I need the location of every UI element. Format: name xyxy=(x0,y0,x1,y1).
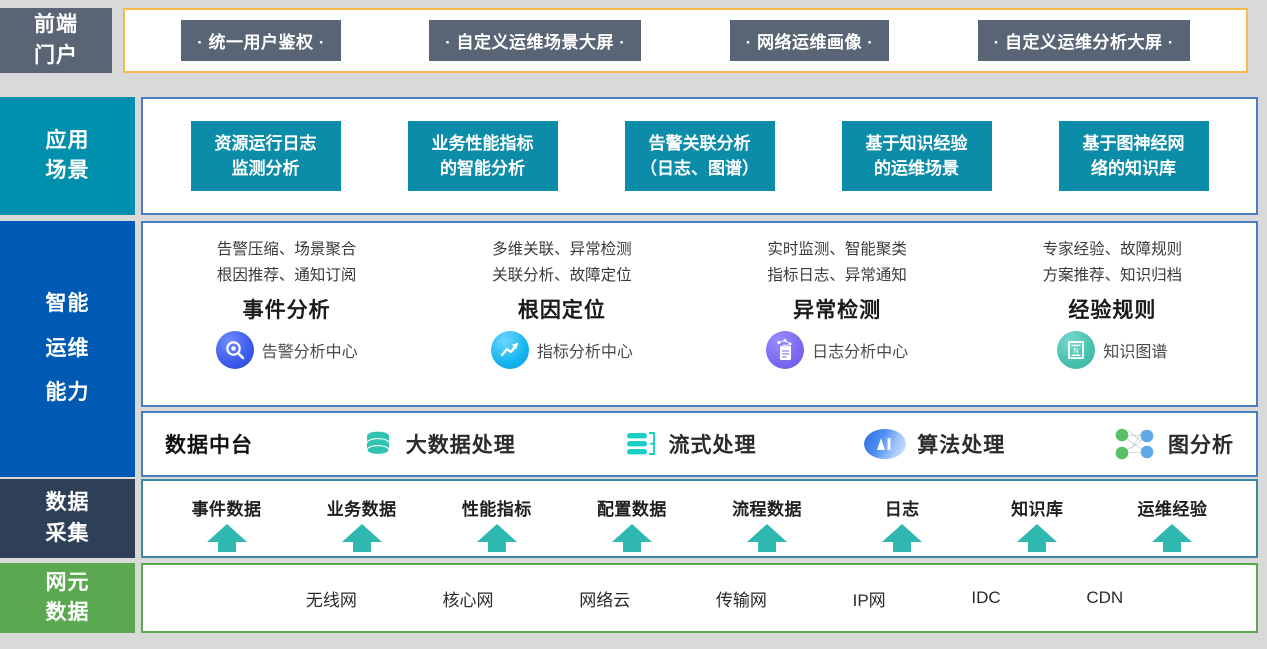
platform-item-label: 算法处理 xyxy=(917,429,1005,459)
ops-column-experience-rules[interactable]: 专家经验、故障规则 方案推荐、知识归档 经验规则 N 知识图谱 xyxy=(983,237,1241,369)
platform-item-stream[interactable]: 流式处理 xyxy=(624,429,757,459)
arrow-up-icon xyxy=(1152,524,1192,542)
ops-icon-label: 知识图谱 xyxy=(1103,338,1167,362)
row-label-network-element-data: 网元 数据 xyxy=(0,563,135,633)
row-label-line-1: 数据 xyxy=(46,488,90,518)
ops-desc-line-1: 多维关联、异常检测 xyxy=(492,237,632,263)
network-element-panel: 无线网 核心网 网络云 传输网 IP网 IDC CDN xyxy=(141,563,1258,633)
svg-text:N: N xyxy=(1074,346,1079,355)
ops-icon-row[interactable]: 日志分析中心 xyxy=(766,331,908,369)
element-item-core[interactable]: 核心网 xyxy=(443,586,494,611)
row-label-line-2: 采集 xyxy=(46,519,90,549)
collect-item-label: 日志 xyxy=(885,495,920,520)
collect-item-ops-experience[interactable]: 运维经验 xyxy=(1120,495,1224,542)
scenario-card-line-1: 告警关联分析 xyxy=(649,131,751,157)
collect-item-label: 配置数据 xyxy=(597,495,667,520)
collect-item-log[interactable]: 日志 xyxy=(850,495,954,542)
platform-item-graph-analysis[interactable]: 图分析 xyxy=(1113,427,1234,461)
ops-column-title: 根因定位 xyxy=(518,294,606,324)
scenario-card-line-1: 基于知识经验 xyxy=(866,131,968,157)
element-item-cdn[interactable]: CDN xyxy=(1086,588,1123,608)
row-application-scenarios: 应用 场景 资源运行日志 监测分析 业务性能指标 的智能分析 告警关联分析 （日… xyxy=(0,97,1258,215)
collect-item-performance-kpi[interactable]: 性能指标 xyxy=(445,495,549,542)
platform-item-label: 大数据处理 xyxy=(406,429,516,459)
element-item-ip[interactable]: IP网 xyxy=(853,586,886,611)
ops-desc-line-1: 告警压缩、场景聚合 xyxy=(217,237,357,263)
ops-desc-line-2: 方案推荐、知识归档 xyxy=(1043,263,1183,289)
row-label-line-1: 网元 xyxy=(46,568,90,598)
scenario-card-business-kpi[interactable]: 业务性能指标 的智能分析 xyxy=(408,121,558,191)
scenario-card-resource-log[interactable]: 资源运行日志 监测分析 xyxy=(191,121,341,191)
row-label-line-1: 前端 xyxy=(34,10,78,40)
portal-chip-auth[interactable]: · 统一用户鉴权 · xyxy=(181,20,341,61)
platform-item-label: 流式处理 xyxy=(669,429,757,459)
scenario-card-line-1: 基于图神经网 xyxy=(1083,131,1185,157)
log-clipboard-icon xyxy=(766,331,804,369)
ops-icon-label: 日志分析中心 xyxy=(812,338,908,362)
row-label-application-scenarios: 应用 场景 xyxy=(0,97,135,215)
data-collection-panel: 事件数据 业务数据 性能指标 配置数据 流程数据 日志 xyxy=(141,479,1258,558)
row-label-line-2: 门户 xyxy=(34,41,78,71)
ops-desc-line-1: 实时监测、智能聚类 xyxy=(767,237,907,263)
arrow-up-icon xyxy=(747,524,787,542)
row-label-frontend-portal: 前端 门户 xyxy=(0,8,112,73)
row-label-line-2: 场景 xyxy=(46,156,90,186)
arrow-up-icon xyxy=(612,524,652,542)
arrow-up-icon xyxy=(477,524,517,542)
collect-item-label: 事件数据 xyxy=(192,495,262,520)
portal-chip-scene-dashboard[interactable]: · 自定义运维场景大屏 · xyxy=(429,20,641,61)
scenario-card-gnn-knowledge-base[interactable]: 基于图神经网 络的知识库 xyxy=(1059,121,1209,191)
data-middle-platform-panel: 数据中台 大数据处理 xyxy=(141,411,1258,477)
row-label-line-2: 数据 xyxy=(46,598,90,628)
collect-item-label: 知识库 xyxy=(1011,495,1064,520)
scenario-card-line-2: 的智能分析 xyxy=(440,156,525,182)
ops-column-title: 事件分析 xyxy=(243,294,331,324)
scenario-card-line-2: 络的知识库 xyxy=(1091,156,1176,182)
collect-item-label: 性能指标 xyxy=(462,495,532,520)
data-middle-platform-title: 数据中台 xyxy=(165,429,253,459)
platform-item-bigdata[interactable]: 大数据处理 xyxy=(361,429,516,459)
scenario-card-line-2: 的运维场景 xyxy=(874,156,959,182)
ai-icon xyxy=(864,429,906,459)
row-label-line-3: 能力 xyxy=(46,378,90,408)
row-label-intelligent-ops-capability: 智能 运维 能力 xyxy=(0,221,135,477)
ops-column-title: 异常检测 xyxy=(793,294,881,324)
platform-item-algorithm[interactable]: 算法处理 xyxy=(864,429,1005,459)
row-label-data-collection: 数据 采集 xyxy=(0,479,135,558)
scenario-card-alarm-correlation[interactable]: 告警关联分析 （日志、图谱） xyxy=(625,121,775,191)
metric-trend-icon xyxy=(491,331,529,369)
scenario-card-line-2: （日志、图谱） xyxy=(640,156,759,182)
collect-item-label: 流程数据 xyxy=(732,495,802,520)
arrow-up-icon xyxy=(882,524,922,542)
row-intelligent-ops-capability: 智能 运维 能力 告警压缩、场景聚合 根因推荐、通知订阅 事件分析 xyxy=(0,221,1258,477)
collect-item-label: 业务数据 xyxy=(327,495,397,520)
ops-desc-line-2: 指标日志、异常通知 xyxy=(767,263,907,289)
stream-icon xyxy=(624,429,658,459)
element-item-wireless[interactable]: 无线网 xyxy=(306,586,357,611)
ops-icon-label: 指标分析中心 xyxy=(537,338,633,362)
ops-capability-panel: 告警压缩、场景聚合 根因推荐、通知订阅 事件分析 告警分析中心 xyxy=(141,221,1258,407)
alert-search-icon xyxy=(216,331,254,369)
ops-icon-row[interactable]: 告警分析中心 xyxy=(216,331,358,369)
ops-desc-line-2: 根因推荐、通知订阅 xyxy=(217,263,357,289)
ops-desc-line-2: 关联分析、故障定位 xyxy=(492,263,632,289)
portal-chip-analysis-dashboard[interactable]: · 自定义运维分析大屏 · xyxy=(978,20,1190,61)
ops-icon-label: 告警分析中心 xyxy=(262,338,358,362)
collect-item-event-data[interactable]: 事件数据 xyxy=(175,495,279,542)
row-frontend-portal: 前端 门户 · 统一用户鉴权 · · 自定义运维场景大屏 · · 网络运维画像 … xyxy=(0,8,1248,73)
portal-chip-network-profile[interactable]: · 网络运维画像 · xyxy=(730,20,890,61)
ops-column-root-cause[interactable]: 多维关联、异常检测 关联分析、故障定位 根因定位 指标分析中心 xyxy=(433,237,691,369)
ops-desc-line-1: 专家经验、故障规则 xyxy=(1043,237,1183,263)
scenario-card-line-1: 业务性能指标 xyxy=(432,131,534,157)
scenario-card-line-2: 监测分析 xyxy=(232,156,300,182)
arrow-up-icon xyxy=(207,524,247,542)
collect-item-label: 运维经验 xyxy=(1137,495,1207,520)
arrow-up-icon xyxy=(1017,524,1057,542)
arrow-up-icon xyxy=(342,524,382,542)
ops-column-title: 经验规则 xyxy=(1068,294,1156,324)
ops-column-anomaly-detection[interactable]: 实时监测、智能聚类 指标日志、异常通知 异常检测 xyxy=(708,237,966,369)
element-item-idc[interactable]: IDC xyxy=(971,588,1000,608)
scenario-card-knowledge-ops[interactable]: 基于知识经验 的运维场景 xyxy=(842,121,992,191)
database-icon xyxy=(361,429,395,459)
scenario-card-line-1: 资源运行日志 xyxy=(215,131,317,157)
element-item-transport[interactable]: 传输网 xyxy=(716,586,767,611)
scenario-panel: 资源运行日志 监测分析 业务性能指标 的智能分析 告警关联分析 （日志、图谱） … xyxy=(141,97,1258,215)
row-data-collection: 数据 采集 事件数据 业务数据 性能指标 配置数据 流程数据 xyxy=(0,479,1258,558)
architecture-diagram: 前端 门户 · 统一用户鉴权 · · 自定义运维场景大屏 · · 网络运维画像 … xyxy=(0,0,1267,649)
graph-nodes-icon xyxy=(1113,427,1157,461)
collect-item-config-data[interactable]: 配置数据 xyxy=(580,495,684,542)
ops-column-event-analysis[interactable]: 告警压缩、场景聚合 根因推荐、通知订阅 事件分析 告警分析中心 xyxy=(158,237,416,369)
ops-icon-row[interactable]: N 知识图谱 xyxy=(1057,331,1167,369)
ops-stack: 告警压缩、场景聚合 根因推荐、通知订阅 事件分析 告警分析中心 xyxy=(141,221,1258,477)
portal-panel: · 统一用户鉴权 · · 自定义运维场景大屏 · · 网络运维画像 · · 自定… xyxy=(123,8,1248,73)
platform-item-label: 图分析 xyxy=(1168,429,1234,459)
row-label-line-1: 应用 xyxy=(46,126,90,156)
ops-icon-row[interactable]: 指标分析中心 xyxy=(491,331,633,369)
row-label-line-2: 运维 xyxy=(46,334,90,364)
collect-item-business-data[interactable]: 业务数据 xyxy=(310,495,414,542)
collect-item-process-data[interactable]: 流程数据 xyxy=(715,495,819,542)
row-label-line-1: 智能 xyxy=(46,289,90,319)
element-item-cloud[interactable]: 网络云 xyxy=(579,586,630,611)
knowledge-graph-icon: N xyxy=(1057,331,1095,369)
row-network-element-data: 网元 数据 无线网 核心网 网络云 传输网 IP网 IDC CDN xyxy=(0,563,1258,633)
collect-item-knowledge-base[interactable]: 知识库 xyxy=(985,495,1089,542)
